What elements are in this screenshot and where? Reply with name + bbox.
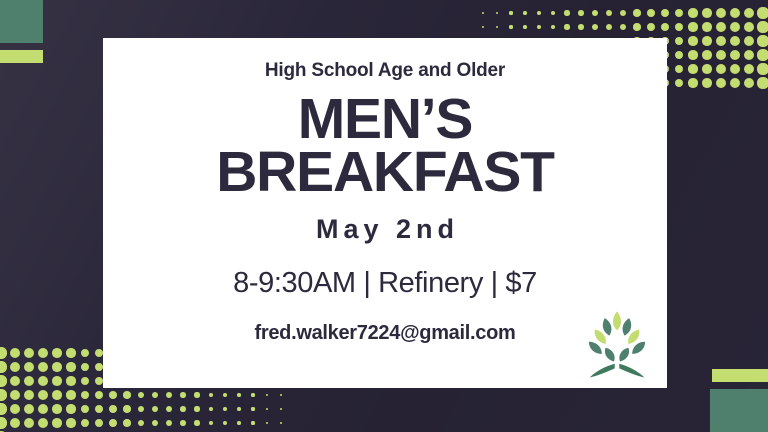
decorative-dot — [702, 78, 712, 88]
decorative-dot — [620, 24, 627, 31]
decorative-dot — [109, 419, 117, 427]
decorative-dot — [675, 51, 684, 60]
decorative-dot — [482, 12, 484, 14]
decorative-dot — [757, 49, 768, 60]
event-details: 8-9:30AM | Refinery | $7 — [233, 269, 537, 298]
decorative-dot — [633, 23, 640, 30]
decorative-dot — [757, 63, 768, 74]
decorative-dot — [251, 407, 254, 410]
decorative-dot — [237, 407, 241, 411]
decorative-dot — [223, 407, 227, 411]
decorative-dot — [730, 64, 740, 74]
decorative-dot — [716, 22, 726, 32]
decorative-dot — [38, 376, 48, 386]
bottom-right-lime-bar — [712, 369, 768, 382]
decorative-dot — [152, 406, 158, 412]
decorative-dot — [180, 406, 186, 412]
decorative-dot — [24, 418, 34, 428]
decorative-dot — [757, 7, 768, 18]
decorative-dot — [744, 36, 755, 47]
decorative-dot — [138, 420, 145, 427]
decorative-dot — [251, 393, 254, 396]
bottom-right-teal-square — [710, 389, 768, 432]
decorative-dot — [730, 22, 740, 32]
decorative-dot — [81, 391, 90, 400]
decorative-dot — [123, 391, 130, 398]
decorative-dot — [730, 50, 740, 60]
decorative-dot — [109, 391, 117, 399]
decorative-dot — [551, 25, 556, 30]
decorative-dot — [675, 37, 684, 46]
decorative-dot — [509, 25, 512, 28]
decorative-dot — [675, 79, 684, 88]
decorative-dot — [66, 390, 75, 399]
decorative-dot — [744, 8, 755, 19]
decorative-dot — [280, 394, 282, 396]
decorative-dot — [564, 24, 569, 29]
decorative-dot — [251, 421, 254, 424]
decorative-dot — [24, 390, 34, 400]
decorative-dot — [166, 420, 172, 426]
decorative-dot — [730, 78, 740, 88]
decorative-dot — [223, 421, 227, 425]
decorative-dot — [66, 404, 75, 413]
decorative-dot — [10, 362, 21, 373]
decorative-dot — [702, 22, 712, 32]
decorative-dot — [95, 349, 103, 357]
decorative-dot — [620, 10, 627, 17]
event-date: May 2nd — [311, 216, 459, 243]
decorative-dot — [237, 421, 241, 425]
decorative-dot — [81, 419, 90, 428]
decorative-dot — [10, 376, 21, 387]
decorative-dot — [66, 348, 75, 357]
decorative-dot — [10, 390, 21, 401]
decorative-dot — [688, 64, 697, 73]
decorative-dot — [180, 392, 186, 398]
decorative-dot — [606, 10, 612, 16]
decorative-dot — [81, 405, 90, 414]
decorative-dot — [716, 50, 726, 60]
decorative-dot — [716, 64, 726, 74]
decorative-dot — [702, 64, 712, 74]
decorative-dot — [606, 24, 612, 30]
decorative-dot — [194, 392, 199, 397]
decorative-dot — [95, 419, 103, 427]
decorative-dot — [551, 11, 556, 16]
decorative-dot — [10, 348, 21, 359]
decorative-dot — [95, 363, 103, 371]
decorative-dot — [0, 403, 7, 414]
decorative-dot — [702, 8, 712, 18]
decorative-dot — [482, 26, 484, 28]
decorative-dot — [266, 394, 269, 397]
decorative-dot — [66, 376, 75, 385]
decorative-dot — [647, 9, 655, 17]
decorative-dot — [675, 9, 684, 18]
decorative-dot — [237, 393, 241, 397]
decorative-dot — [38, 390, 48, 400]
headline-line-2: BREAKFAST — [216, 146, 554, 199]
decorative-dot — [138, 406, 145, 413]
decorative-dot — [730, 36, 740, 46]
decorative-dot — [757, 77, 768, 88]
decorative-dot — [0, 347, 7, 358]
headline-line-1: MEN’S — [216, 93, 554, 146]
decorative-dot — [123, 405, 130, 412]
decorative-dot — [38, 362, 48, 372]
decorative-dot — [52, 348, 62, 358]
decorative-dot — [509, 11, 512, 14]
decorative-dot — [209, 421, 214, 426]
decorative-dot — [52, 376, 62, 386]
decorative-dot — [675, 65, 684, 74]
decorative-dot — [688, 8, 697, 17]
decorative-dot — [138, 392, 145, 399]
top-left-lime-bar — [0, 50, 43, 63]
decorative-dot — [180, 420, 186, 426]
decorative-dot — [744, 22, 755, 33]
decorative-dot — [280, 408, 282, 410]
decorative-dot — [716, 78, 726, 88]
tree-crown — [589, 311, 645, 361]
decorative-dot — [757, 35, 768, 46]
decorative-dot — [66, 418, 75, 427]
decorative-dot — [123, 419, 130, 426]
decorative-dot — [52, 390, 62, 400]
decorative-dot — [661, 9, 669, 17]
decorative-dot — [166, 406, 172, 412]
page-title: MEN’S BREAKFAST — [216, 93, 554, 199]
decorative-dot — [716, 8, 726, 18]
event-flyer: High School Age and Older MEN’S BREAKFAS… — [0, 0, 768, 432]
decorative-dot — [496, 12, 499, 15]
decorative-dot — [0, 389, 7, 400]
decorative-dot — [0, 361, 7, 372]
decorative-dot — [209, 393, 214, 398]
decorative-dot — [194, 420, 199, 425]
decorative-dot — [266, 422, 269, 425]
decorative-dot — [0, 375, 7, 386]
decorative-dot — [109, 405, 117, 413]
decorative-dot — [24, 348, 34, 358]
decorative-dot — [523, 11, 527, 15]
decorative-dot — [633, 9, 640, 16]
decorative-dot — [52, 418, 62, 428]
tree-base — [590, 364, 645, 378]
decorative-dot — [38, 404, 48, 414]
decorative-dot — [266, 408, 269, 411]
content-card: High School Age and Older MEN’S BREAKFAS… — [103, 38, 667, 388]
decorative-dot — [95, 377, 103, 385]
decorative-dot — [716, 36, 726, 46]
decorative-dot — [209, 407, 214, 412]
decorative-dot — [38, 348, 48, 358]
decorative-dot — [592, 10, 598, 16]
decorative-dot — [537, 25, 541, 29]
tree-logo-icon — [579, 306, 655, 382]
decorative-dot — [661, 23, 669, 31]
decorative-dot — [578, 10, 584, 16]
decorative-dot — [223, 393, 227, 397]
decorative-dot — [688, 78, 697, 87]
decorative-dot — [647, 23, 655, 31]
decorative-dot — [744, 78, 755, 89]
decorative-dot — [578, 24, 584, 30]
decorative-dot — [702, 36, 712, 46]
decorative-dot — [564, 10, 569, 15]
decorative-dot — [744, 64, 755, 75]
decorative-dot — [81, 377, 90, 386]
decorative-dot — [52, 362, 62, 372]
decorative-dot — [496, 26, 499, 29]
decorative-dot — [81, 349, 90, 358]
decorative-dot — [194, 406, 199, 411]
decorative-dot — [744, 50, 755, 61]
decorative-dot — [24, 404, 34, 414]
decorative-dot — [592, 24, 598, 30]
decorative-dot — [688, 36, 697, 45]
decorative-dot — [10, 418, 21, 429]
decorative-dot — [675, 23, 684, 32]
decorative-dot — [152, 420, 158, 426]
decorative-dot — [523, 25, 527, 29]
decorative-dot — [95, 405, 103, 413]
decorative-dot — [95, 391, 103, 399]
decorative-dot — [10, 404, 21, 415]
decorative-dot — [81, 363, 90, 372]
decorative-dot — [280, 422, 282, 424]
audience-eyebrow: High School Age and Older — [265, 61, 505, 80]
decorative-dot — [757, 21, 768, 32]
decorative-dot — [688, 50, 697, 59]
decorative-dot — [537, 11, 541, 15]
decorative-dot — [38, 418, 48, 428]
decorative-dot — [24, 376, 34, 386]
decorative-dot — [66, 362, 75, 371]
decorative-dot — [152, 392, 158, 398]
decorative-dot — [688, 22, 697, 31]
decorative-dot — [702, 50, 712, 60]
decorative-dot — [166, 392, 172, 398]
decorative-dot — [24, 362, 34, 372]
decorative-dot — [52, 404, 62, 414]
decorative-dot — [730, 8, 740, 18]
decorative-dot — [0, 417, 7, 428]
contact-email[interactable]: fred.walker7224@gmail.com — [254, 323, 515, 343]
top-left-teal-square — [0, 0, 43, 43]
